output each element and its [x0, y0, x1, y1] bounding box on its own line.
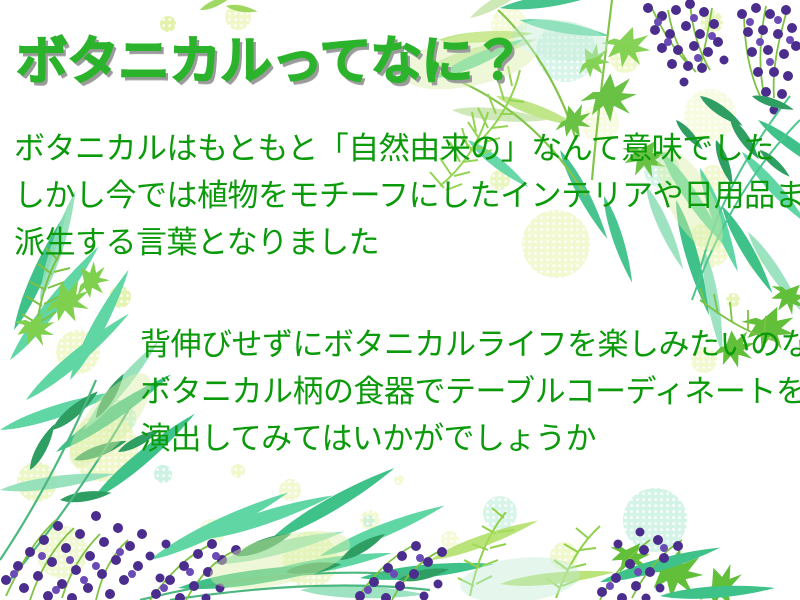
text-layer: ボタニカルってなに？ ボタニカルはもともと「自然由来の」なんて意味でした しかし…	[0, 0, 800, 600]
paragraph-suggestion-line-2: ボタニカル柄の食器でテーブルコーディネートを	[140, 369, 800, 416]
page-title: ボタニカルってなに？	[16, 36, 523, 88]
slide-canvas: ボタニカルってなに？ ボタニカルはもともと「自然由来の」なんて意味でした しかし…	[0, 0, 800, 600]
paragraph-suggestion: 背伸びせずにボタニカルライフを楽しみたいのなら ボタニカル柄の食器でテーブルコー…	[140, 322, 800, 463]
paragraph-suggestion-line-3: 演出してみてはいかがでしょうか	[140, 416, 800, 463]
paragraph-intro-line-2: しかし今では植物をモチーフにしたインテリアや日用品まで	[14, 173, 800, 220]
paragraph-intro: ボタニカルはもともと「自然由来の」なんて意味でした しかし今では植物をモチーフに…	[14, 126, 800, 267]
paragraph-intro-line-1: ボタニカルはもともと「自然由来の」なんて意味でした	[14, 126, 800, 173]
paragraph-suggestion-line-1: 背伸びせずにボタニカルライフを楽しみたいのなら	[140, 322, 800, 369]
paragraph-intro-line-3: 派生する言葉となりました	[14, 220, 800, 267]
